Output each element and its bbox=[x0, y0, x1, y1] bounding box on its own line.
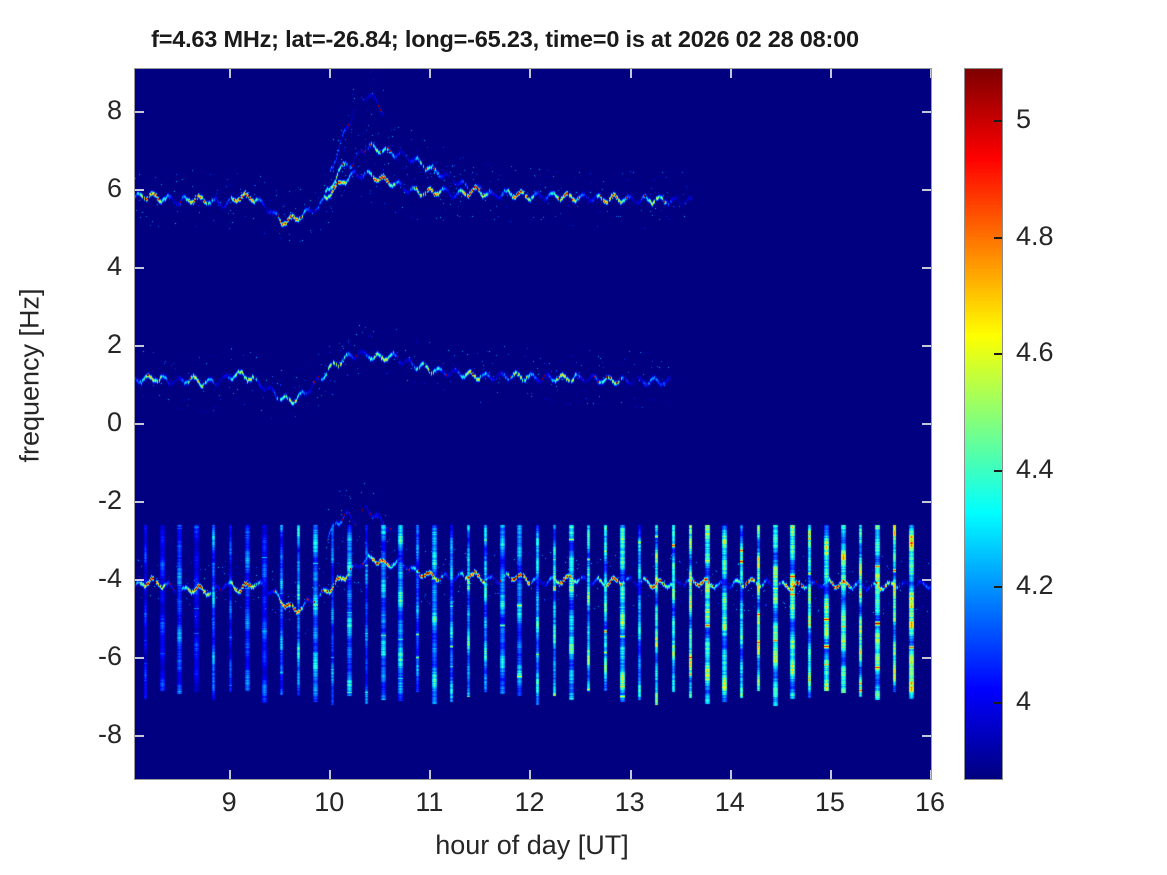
colorbar-tick-label: 5 bbox=[1016, 106, 1031, 133]
x-tickmark bbox=[429, 69, 431, 78]
y-tickmark bbox=[922, 579, 931, 581]
spectrogram-axes[interactable] bbox=[134, 68, 932, 780]
y-tickmark bbox=[135, 579, 144, 581]
y-tickmark bbox=[922, 735, 931, 737]
y-tickmark bbox=[135, 345, 144, 347]
colorbar-tickmark bbox=[994, 237, 1002, 239]
x-tick-label: 9 bbox=[189, 789, 269, 816]
x-tickmark bbox=[830, 770, 832, 779]
x-tickmark bbox=[529, 69, 531, 78]
colorbar-tickmark bbox=[994, 586, 1002, 588]
x-tickmark bbox=[529, 770, 531, 779]
y-tickmark bbox=[922, 267, 931, 269]
x-tick-label: 11 bbox=[389, 789, 469, 816]
figure-canvas: f=4.63 MHz; lat=-26.84; long=-65.23, tim… bbox=[0, 0, 1167, 875]
y-tickmark bbox=[135, 267, 144, 269]
page-title: f=4.63 MHz; lat=-26.84; long=-65.23, tim… bbox=[0, 26, 1010, 53]
y-tick-label: -6 bbox=[98, 643, 122, 670]
x-tickmark bbox=[930, 770, 932, 779]
x-tickmark bbox=[730, 69, 732, 78]
y-tickmark bbox=[922, 345, 931, 347]
colorbar-tick-label: 4 bbox=[1016, 688, 1031, 715]
y-tickmark bbox=[135, 423, 144, 425]
y-tick-label: 6 bbox=[107, 175, 122, 202]
y-tick-label: 2 bbox=[107, 331, 122, 358]
colorbar-tick-label: 4.2 bbox=[1016, 572, 1054, 599]
y-tick-label: 0 bbox=[107, 409, 122, 436]
x-tickmark bbox=[730, 770, 732, 779]
y-tickmark bbox=[922, 501, 931, 503]
spectrogram-image bbox=[135, 69, 931, 779]
x-tickmark bbox=[329, 770, 331, 779]
y-tickmark bbox=[922, 423, 931, 425]
y-tick-label: -2 bbox=[98, 487, 122, 514]
x-tickmark bbox=[930, 69, 932, 78]
x-tickmark bbox=[630, 770, 632, 779]
y-axis-label: frequency [Hz] bbox=[15, 96, 46, 656]
x-tick-label: 16 bbox=[890, 789, 970, 816]
y-tick-label: 4 bbox=[107, 253, 122, 280]
colorbar-tickmark bbox=[994, 702, 1002, 704]
y-tickmark bbox=[135, 501, 144, 503]
y-tickmark bbox=[922, 111, 931, 113]
y-tick-label: 8 bbox=[107, 97, 122, 124]
x-tickmark bbox=[229, 69, 231, 78]
x-tick-label: 14 bbox=[690, 789, 770, 816]
x-tickmark bbox=[830, 69, 832, 78]
colorbar-tick-label: 4.6 bbox=[1016, 339, 1054, 366]
x-axis-label: hour of day [UT] bbox=[134, 830, 930, 861]
x-tick-label: 15 bbox=[790, 789, 870, 816]
y-tickmark bbox=[922, 189, 931, 191]
x-tick-label: 13 bbox=[590, 789, 670, 816]
x-tickmark bbox=[429, 770, 431, 779]
y-tick-label: -8 bbox=[98, 721, 122, 748]
x-tickmark bbox=[630, 69, 632, 78]
colorbar-tickmark bbox=[994, 470, 1002, 472]
y-tickmark bbox=[922, 657, 931, 659]
colorbar[interactable] bbox=[964, 68, 1003, 780]
x-tickmark bbox=[229, 770, 231, 779]
x-tick-label: 12 bbox=[489, 789, 569, 816]
y-tickmark bbox=[135, 657, 144, 659]
colorbar-gradient bbox=[965, 69, 1002, 779]
colorbar-tickmark bbox=[994, 120, 1002, 122]
y-tick-label: -4 bbox=[98, 565, 122, 592]
colorbar-tick-label: 4.4 bbox=[1016, 456, 1054, 483]
y-tickmark bbox=[135, 735, 144, 737]
x-tick-label: 10 bbox=[289, 789, 369, 816]
x-tickmark bbox=[329, 69, 331, 78]
colorbar-tick-label: 4.8 bbox=[1016, 223, 1054, 250]
y-tickmark bbox=[135, 111, 144, 113]
colorbar-tickmark bbox=[994, 353, 1002, 355]
y-tickmark bbox=[135, 189, 144, 191]
